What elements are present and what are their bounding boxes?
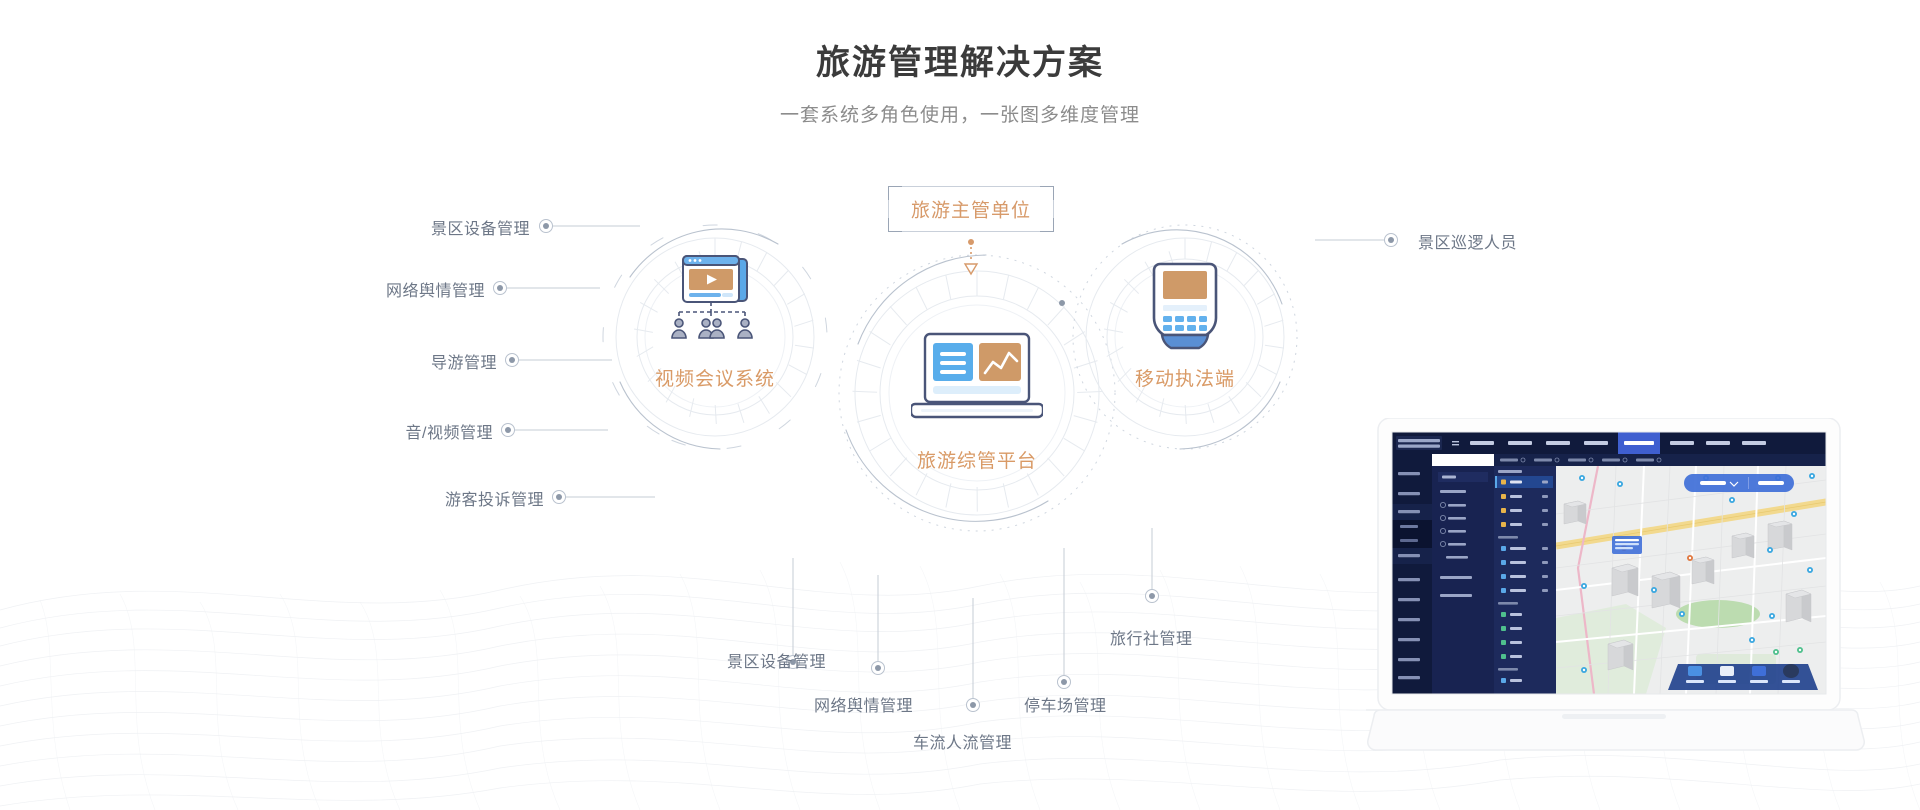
dotted-down-arrow-icon bbox=[960, 238, 982, 276]
bottom-connector-dot-4[interactable] bbox=[1057, 675, 1071, 689]
supervisor-unit-label: 旅游主管单位 bbox=[888, 196, 1054, 223]
left-connector-dot-2[interactable] bbox=[493, 281, 507, 295]
bottom-connector-dot-5[interactable] bbox=[1145, 589, 1159, 603]
left-connector-label-2: 网络舆情管理 bbox=[155, 277, 485, 301]
laptop-dashboard-icon bbox=[911, 332, 1043, 428]
left-connector-dot-1[interactable] bbox=[539, 219, 553, 233]
ring-mobile-enforcement: 移动执法端 bbox=[1070, 222, 1300, 452]
bottom-connector-dot-2[interactable] bbox=[871, 661, 885, 675]
left-connector-dot-5[interactable] bbox=[552, 490, 566, 504]
right-connector-dot-1[interactable] bbox=[1384, 233, 1398, 247]
node-label-mobile-enforcement: 移动执法端 bbox=[1070, 364, 1300, 391]
laptop-preview-mockup bbox=[1366, 418, 1866, 758]
mobile-terminal-icon bbox=[1148, 260, 1222, 356]
bottom-connector-label-5: 旅行社管理 bbox=[1110, 625, 1193, 649]
bottom-connector-label-1: 景区设备管理 bbox=[727, 648, 826, 672]
ring-video-conference: 视频会议系统 bbox=[600, 222, 830, 452]
left-connector-label-3: 导游管理 bbox=[167, 349, 497, 373]
page-subtitle: 一套系统多角色使用，一张图多维度管理 bbox=[0, 102, 1920, 130]
supervisor-unit-badge[interactable]: 旅游主管单位 bbox=[888, 186, 1054, 232]
bottom-connector-dot-3[interactable] bbox=[966, 698, 980, 712]
bottom-connector-label-4: 停车场管理 bbox=[1024, 692, 1107, 716]
video-conference-icon bbox=[657, 254, 773, 344]
page-title: 旅游管理解决方案 bbox=[0, 40, 1920, 86]
left-connector-dot-4[interactable] bbox=[501, 423, 515, 437]
left-connector-label-1: 景区设备管理 bbox=[200, 215, 530, 239]
left-connector-label-4: 音/视频管理 bbox=[163, 419, 493, 443]
node-label-video-conference: 视频会议系统 bbox=[600, 364, 830, 391]
left-connector-label-5: 游客投诉管理 bbox=[214, 486, 544, 510]
header: 旅游管理解决方案 一套系统多角色使用，一张图多维度管理 bbox=[0, 40, 1920, 130]
right-connector-label-1: 景区巡逻人员 bbox=[1418, 229, 1517, 253]
solution-infographic-page: 旅游管理解决方案 一套系统多角色使用，一张图多维度管理 bbox=[0, 0, 1920, 810]
bottom-connector-label-3: 车流人流管理 bbox=[913, 729, 1012, 753]
bottom-connector-label-2: 网络舆情管理 bbox=[814, 692, 913, 716]
left-connector-dot-3[interactable] bbox=[505, 353, 519, 367]
